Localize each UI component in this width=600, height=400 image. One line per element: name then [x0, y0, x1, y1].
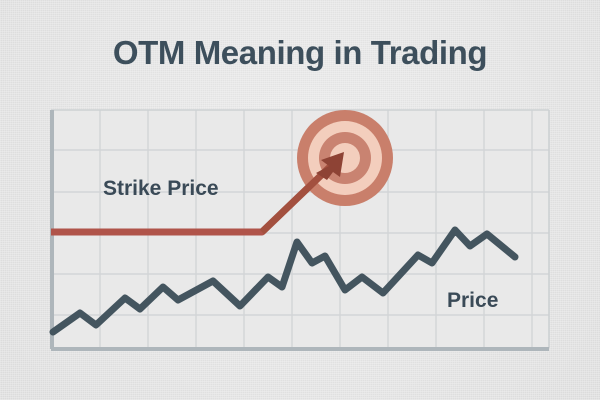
price-label: Price [447, 289, 498, 313]
price-chart [0, 0, 600, 400]
infographic-canvas: OTM Meaning in Trading [0, 0, 600, 400]
target-bullseye-icon [297, 110, 393, 206]
strike-price-label: Strike Price [103, 177, 219, 201]
